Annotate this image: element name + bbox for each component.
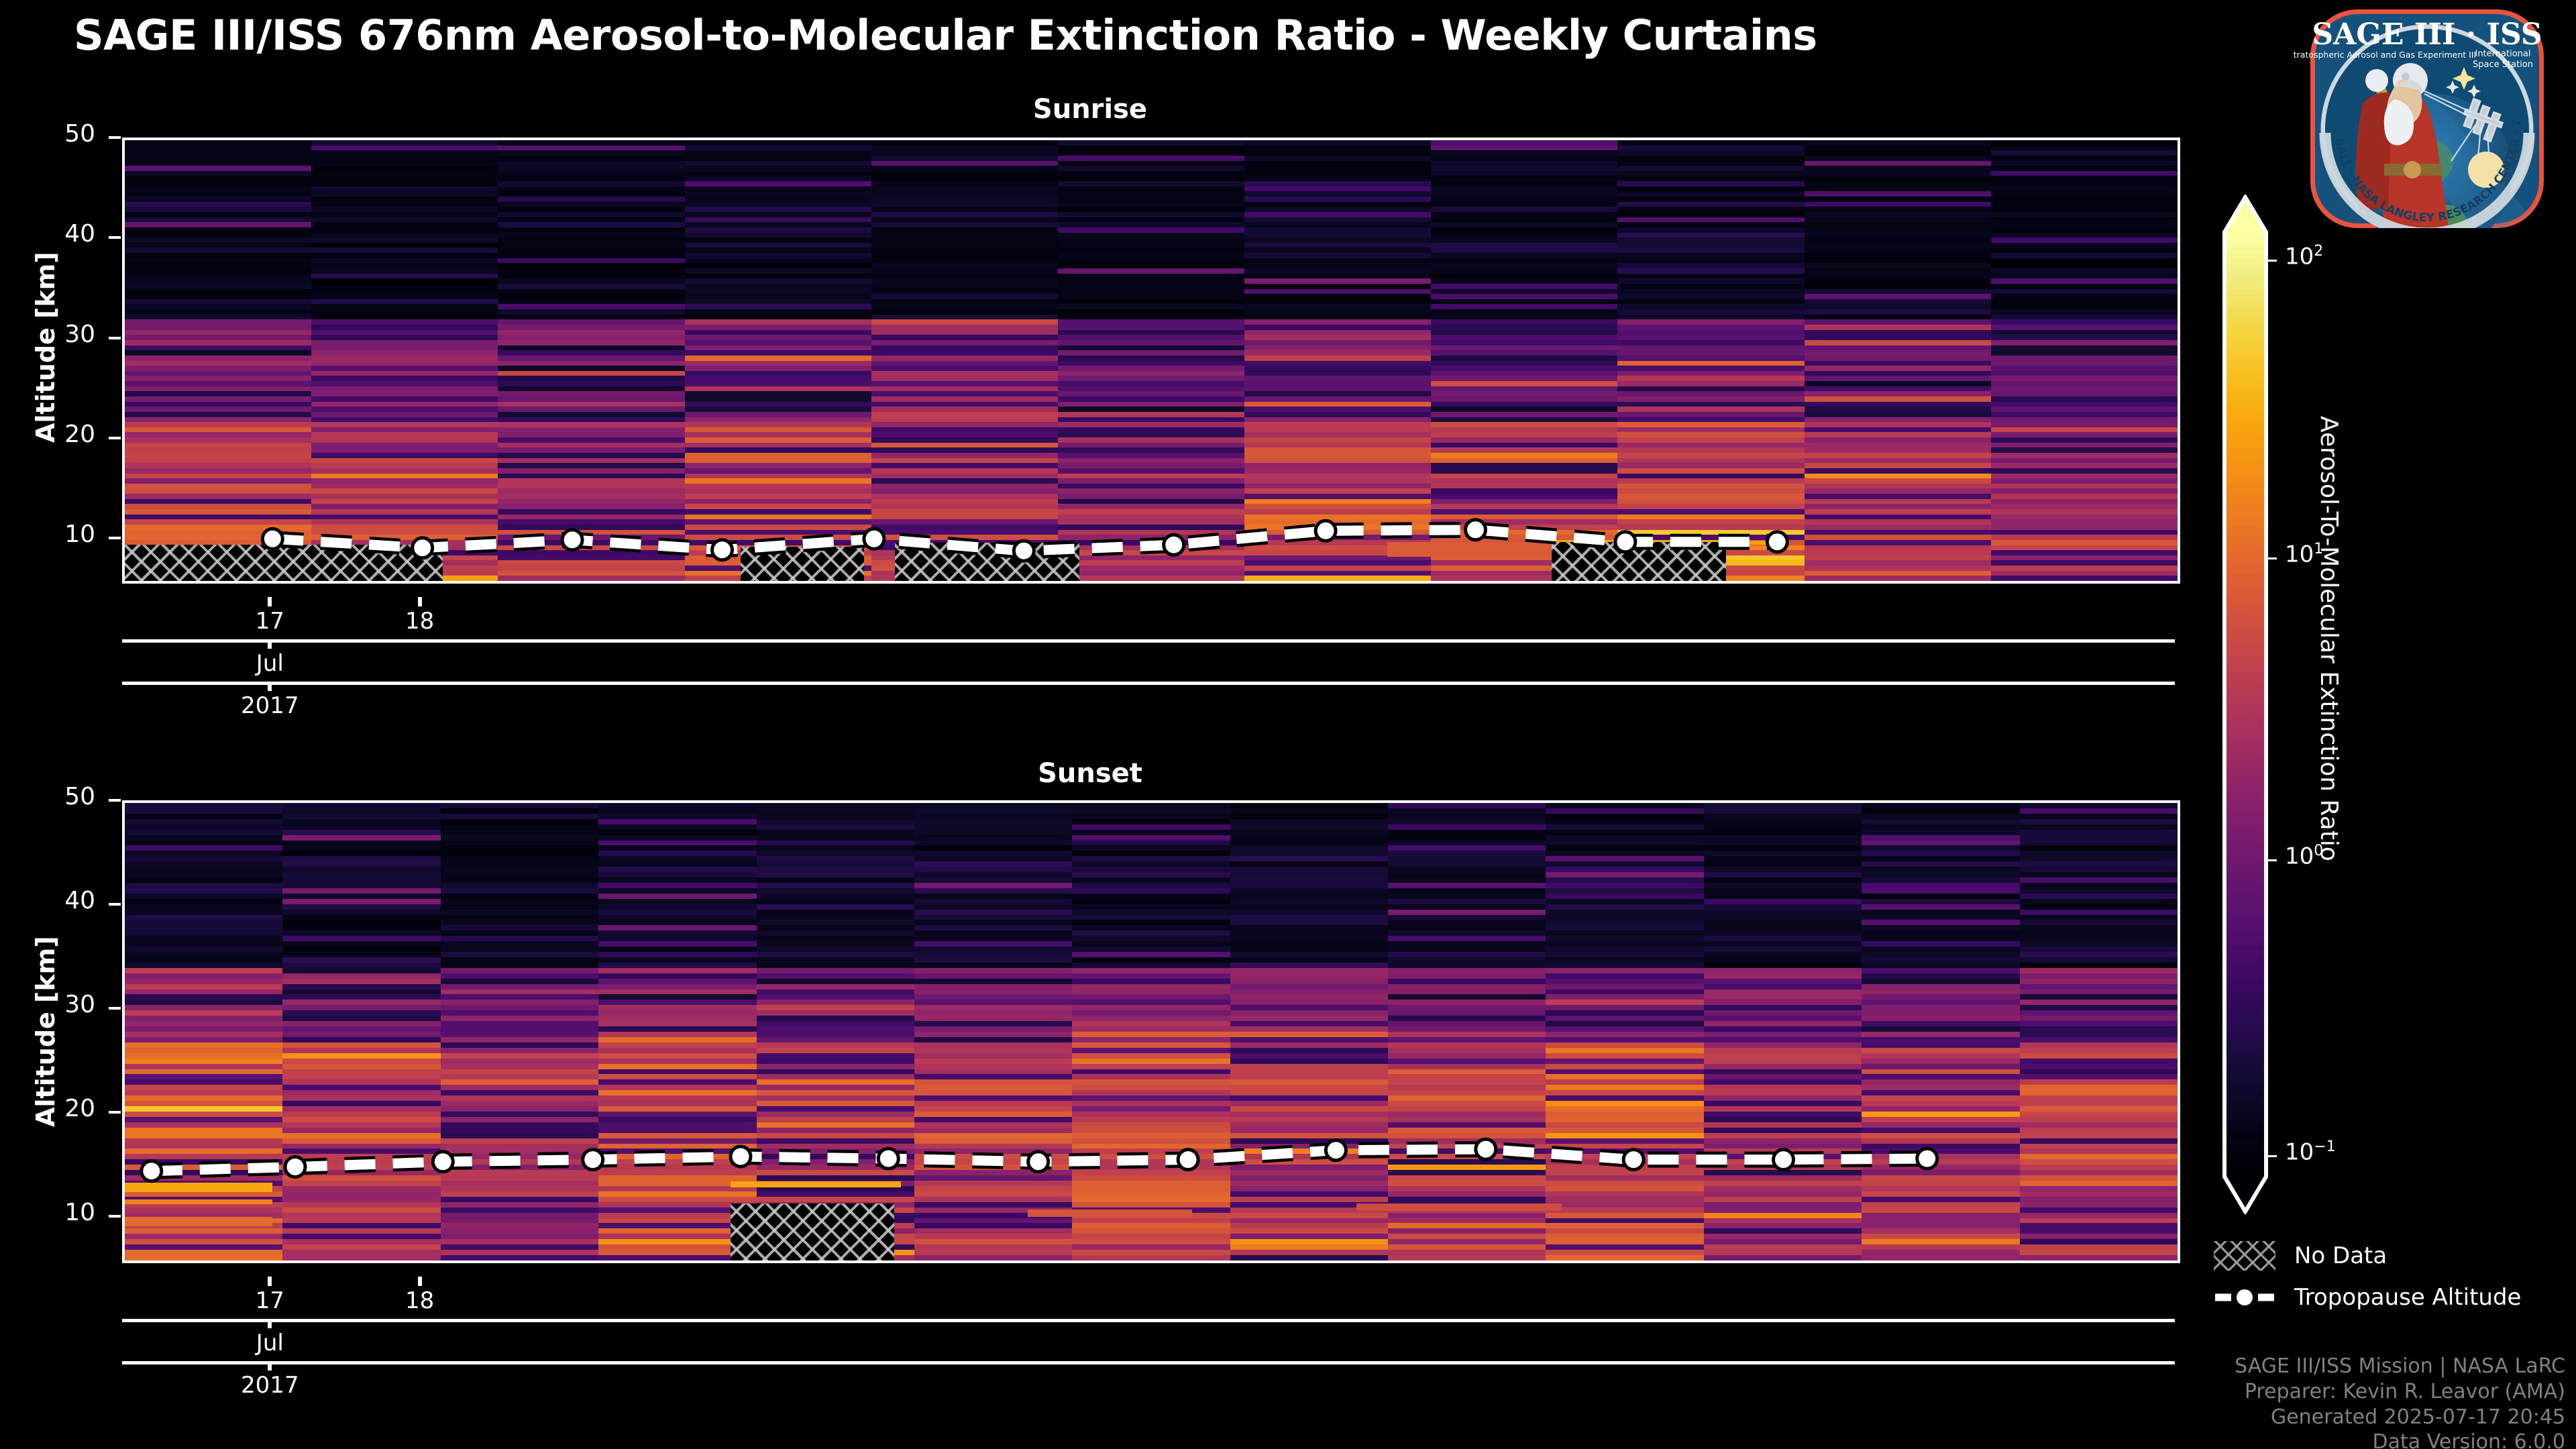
colorbar-band [2224, 904, 2266, 910]
colorbar-tick-mark [2266, 260, 2277, 262]
colorbar-extend-min-arrow [2224, 1177, 2266, 1212]
colorbar-band [2224, 578, 2266, 584]
tropopause-marker [1774, 1150, 1794, 1170]
x-tick-mark-day [418, 1277, 422, 1286]
colorbar-band [2224, 505, 2266, 511]
legend-item-tropopause[interactable]: Tropopause Altitude [2214, 1283, 2521, 1312]
colorbar-band [2224, 1093, 2266, 1099]
colorbar-band [2224, 621, 2266, 627]
y-tick-mark [109, 337, 121, 339]
colorbar-band [2224, 830, 2266, 837]
colorbar-band [2224, 358, 2266, 364]
colorbar-band [2224, 284, 2266, 290]
y-tick-label: 10 [21, 1199, 95, 1226]
y-tick-label: 50 [21, 120, 95, 148]
colorbar-band [2224, 641, 2266, 647]
logo-subtitle-left: Stratospheric Aerosol and Gas Experiment… [2293, 50, 2476, 60]
colorbar-band [2224, 694, 2266, 700]
colorbar-band [2224, 647, 2266, 653]
colorbar-band [2224, 500, 2266, 506]
colorbar-band [2224, 767, 2266, 773]
colorbar-band [2224, 778, 2266, 784]
colorbar-band [2224, 279, 2266, 285]
no-data-swatch-icon [2214, 1241, 2275, 1271]
colorbar-band [2224, 1061, 2266, 1067]
x-tick-label-day: 17 [256, 608, 284, 635]
tropopause-marker [433, 1152, 453, 1172]
colorbar-band [2224, 1035, 2266, 1041]
colorbar-band [2224, 1024, 2266, 1030]
colorbar-band [2224, 573, 2266, 579]
colorbar-band [2224, 699, 2266, 705]
colorbar-band [2224, 788, 2266, 794]
colorbar-band [2224, 689, 2266, 695]
colorbar-band [2224, 877, 2266, 883]
x-axis-level-rule [122, 1361, 2175, 1364]
colorbar-band [2224, 364, 2266, 370]
colorbar-band [2224, 930, 2266, 936]
y-tick-mark [109, 1111, 121, 1114]
colorbar-band [2224, 347, 2266, 354]
y-tick-mark [109, 1007, 121, 1010]
colorbar-band [2224, 773, 2266, 779]
y-tick-label: 50 [21, 783, 95, 810]
colorbar-band [2224, 1114, 2266, 1120]
tropopause-marker [1178, 1150, 1198, 1170]
footer-line-preparer: Preparer: Kevin R. Leavor (AMA) [2235, 1379, 2565, 1405]
footer-line-generated: Generated 2025-07-17 20:45 [2235, 1405, 2565, 1430]
colorbar-band [2224, 762, 2266, 768]
x-axis-level-rule [122, 639, 2175, 643]
colorbar-band [2224, 353, 2266, 359]
colorbar-band [2224, 537, 2266, 543]
colorbar-band [2224, 584, 2266, 590]
colorbar-band [2224, 568, 2266, 574]
x-axis-level-rule [122, 682, 2175, 685]
footer-line-data-version: Data Version: 6.0.0 [2235, 1430, 2565, 1449]
colorbar-band [2224, 1045, 2266, 1051]
colorbar-band [2224, 814, 2266, 820]
colorbar-band [2224, 1087, 2266, 1093]
tropopause-marker [285, 1157, 305, 1177]
tropopause-marker [878, 1148, 898, 1169]
colorbar-tick-mark [2266, 859, 2277, 861]
legend-item-no-data[interactable]: No Data [2214, 1241, 2387, 1271]
colorbar-band [2224, 747, 2266, 753]
tropopause-marker [1164, 535, 1184, 555]
colorbar-band [2224, 883, 2266, 889]
x-tick-label-year: 2017 [241, 1372, 299, 1399]
colorbar-band [2224, 411, 2266, 417]
colorbar-band [2224, 1072, 2266, 1078]
colorbar-band [2224, 332, 2266, 338]
colorbar-band [2224, 327, 2266, 333]
colorbar-band [2224, 684, 2266, 690]
colorbar-band [2224, 394, 2266, 400]
colorbar-band [2224, 857, 2266, 863]
colorbar-band [2224, 437, 2266, 443]
colorbar-band [2224, 552, 2266, 558]
colorbar-band [2224, 914, 2266, 920]
y-tick-label: 40 [21, 887, 95, 914]
colorbar-band [2224, 1166, 2266, 1172]
colorbar-band [2224, 636, 2266, 642]
colorbar-band [2224, 841, 2266, 847]
colorbar-band [2224, 836, 2266, 842]
colorbar-band [2224, 453, 2266, 459]
sunrise-heatmap[interactable] [122, 138, 2180, 584]
colorbar-band [2224, 426, 2266, 432]
colorbar-band [2224, 983, 2266, 989]
tropopause-marker [1767, 532, 1787, 552]
colorbar-band [2224, 248, 2266, 254]
colorbar-band [2224, 1098, 2266, 1104]
colorbar-band [2224, 1040, 2266, 1046]
tropopause-altitude-series [125, 140, 2178, 581]
colorbar-band [2224, 269, 2266, 275]
tropopause-marker [262, 529, 282, 549]
panel-sunrise-title: Sunrise [0, 94, 2180, 125]
colorbar-title: Aerosol-To-Molecular Extinction Ratio [2315, 416, 2343, 861]
colorbar-band [2224, 311, 2266, 317]
colorbar-band [2224, 673, 2266, 679]
sunset-heatmap[interactable] [122, 800, 2180, 1263]
colorbar-band [2224, 384, 2266, 390]
logo-subtitle-right-2: Space Station [2473, 60, 2533, 70]
colorbar-band [2224, 306, 2266, 312]
colorbar-band [2224, 993, 2266, 999]
colorbar-band [2224, 547, 2266, 553]
x-tick-label-day: 17 [256, 1287, 284, 1314]
colorbar-tick-mark [2266, 557, 2277, 559]
colorbar-band [2224, 374, 2266, 380]
tropopause-marker [864, 529, 884, 549]
x-tick-mark-month [268, 639, 272, 649]
colorbar-band [2224, 1119, 2266, 1125]
tropopause-altitude-series [125, 803, 2178, 1260]
colorbar-band [2224, 301, 2266, 307]
tropopause-marker [712, 540, 733, 560]
colorbar-band [2224, 600, 2266, 606]
colorbar-band [2224, 715, 2266, 721]
x-tick-label-month: Jul [256, 1330, 284, 1356]
page-title: SAGE III/ISS 676nm Aerosol-to-Molecular … [74, 11, 1817, 60]
colorbar-band [2224, 657, 2266, 663]
colorbar-band [2224, 867, 2266, 873]
y-tick-mark [109, 903, 121, 906]
colorbar-band [2224, 825, 2266, 831]
colorbar-band [2224, 1156, 2266, 1162]
tropopause-marker [1028, 1152, 1049, 1172]
tropopause-marker [1615, 532, 1635, 552]
colorbar[interactable]: 10210110010−1 Aerosol-To-Molecular Extin… [2210, 195, 2411, 1214]
colorbar-band [2224, 846, 2266, 852]
colorbar-band [2224, 872, 2266, 878]
colorbar-band [2224, 463, 2266, 469]
colorbar-band [2224, 337, 2266, 343]
colorbar-band [2224, 731, 2266, 737]
tropopause-marker [583, 1150, 603, 1170]
tropopause-line-icon [2214, 1283, 2275, 1312]
tropopause-marker [142, 1161, 162, 1181]
colorbar-band [2224, 956, 2266, 962]
x-tick-mark-month [268, 1319, 272, 1328]
colorbar-band [2224, 1145, 2266, 1151]
colorbar-band [2224, 405, 2266, 411]
colorbar-band [2224, 379, 2266, 385]
colorbar-band [2224, 526, 2266, 532]
x-tick-label-day: 18 [405, 608, 434, 635]
colorbar-band [2224, 951, 2266, 957]
colorbar-band [2224, 1124, 2266, 1130]
colorbar-band [2224, 799, 2266, 805]
legend-label-tropopause: Tropopause Altitude [2294, 1284, 2521, 1311]
colorbar-band [2224, 1067, 2266, 1073]
colorbar-band [2224, 652, 2266, 658]
colorbar-band [2224, 1019, 2266, 1025]
y-tick-mark [109, 799, 121, 802]
colorbar-band [2224, 909, 2266, 915]
colorbar-band [2224, 237, 2266, 244]
y-tick-mark [109, 136, 121, 139]
colorbar-band [2224, 243, 2266, 249]
colorbar-band [2224, 542, 2266, 548]
tropopause-marker [1326, 1140, 1346, 1161]
colorbar-tick-label: 10−1 [2285, 1138, 2336, 1165]
colorbar-band [2224, 946, 2266, 952]
colorbar-band [2224, 972, 2266, 978]
colorbar-band [2224, 521, 2266, 527]
colorbar-band [2224, 515, 2266, 521]
colorbar-band [2224, 511, 2266, 517]
colorbar-band [2224, 604, 2266, 610]
colorbar-band [2224, 862, 2266, 868]
colorbar-band [2224, 662, 2266, 668]
tropopause-marker [562, 530, 582, 550]
x-tick-mark-day [418, 597, 422, 606]
colorbar-tick-mark [2266, 1155, 2277, 1157]
colorbar-gradient [2210, 195, 2290, 1214]
colorbar-band [2224, 820, 2266, 826]
colorbar-band [2224, 751, 2266, 757]
colorbar-band [2224, 458, 2266, 464]
colorbar-band [2224, 720, 2266, 726]
tropopause-marker [413, 538, 433, 558]
colorbar-band [2224, 794, 2266, 800]
colorbar-band [2224, 594, 2266, 600]
x-axis-level-rule [122, 1319, 2175, 1322]
colorbar-band [2224, 1150, 2266, 1157]
legend: No Data Tropopause Altitude [2214, 1241, 2569, 1328]
colorbar-band [2224, 935, 2266, 941]
colorbar-band [2224, 531, 2266, 537]
tropopause-marker [1476, 1139, 1496, 1159]
tropopause-marker [1316, 521, 1336, 541]
colorbar-band [2224, 626, 2266, 632]
colorbar-band [2224, 1051, 2266, 1057]
tropopause-marker [1466, 520, 1486, 540]
footer-line-mission: SAGE III/ISS Mission | NASA LaRC [2235, 1354, 2565, 1379]
panel-sunset-title: Sunset [0, 758, 2180, 789]
colorbar-band [2224, 468, 2266, 474]
colorbar-band [2224, 1130, 2266, 1136]
colorbar-band [2224, 447, 2266, 453]
colorbar-band [2224, 710, 2266, 716]
colorbar-band [2224, 631, 2266, 637]
colorbar-band [2224, 290, 2266, 296]
x-tick-mark-day [268, 597, 272, 606]
colorbar-band [2224, 1082, 2266, 1088]
x-tick-label-month: Jul [256, 650, 284, 677]
y-tick-label: 40 [21, 220, 95, 248]
colorbar-band [2224, 1103, 2266, 1109]
colorbar-band [2224, 977, 2266, 983]
colorbar-band [2224, 563, 2266, 569]
colorbar-band [2224, 804, 2266, 810]
colorbar-band [2224, 264, 2266, 270]
colorbar-band [2224, 321, 2266, 327]
y-tick-label: 30 [21, 991, 95, 1018]
colorbar-band [2224, 1108, 2266, 1114]
colorbar-band [2224, 725, 2266, 731]
colorbar-band [2224, 258, 2266, 264]
x-tick-mark-day [268, 1277, 272, 1286]
colorbar-band [2224, 442, 2266, 448]
colorbar-band [2224, 390, 2266, 396]
colorbar-band [2224, 474, 2266, 480]
colorbar-band [2224, 1030, 2266, 1036]
tropopause-marker [1623, 1150, 1644, 1170]
colorbar-band [2224, 232, 2266, 238]
colorbar-band [2224, 295, 2266, 301]
colorbar-band [2224, 1009, 2266, 1015]
colorbar-band [2224, 479, 2266, 485]
colorbar-band [2224, 1004, 2266, 1010]
y-tick-mark [109, 537, 121, 539]
footer-credits: SAGE III/ISS Mission | NASA LaRC Prepare… [2235, 1354, 2565, 1449]
tropopause-marker [731, 1146, 751, 1167]
colorbar-band [2224, 898, 2266, 904]
x-tick-label-year: 2017 [241, 692, 299, 719]
colorbar-band [2224, 610, 2266, 616]
colorbar-band [2224, 484, 2266, 490]
y-tick-label: 20 [21, 1095, 95, 1122]
y-tick-label: 10 [21, 521, 95, 548]
colorbar-band [2224, 967, 2266, 973]
colorbar-band [2224, 888, 2266, 894]
colorbar-extend-max-arrow [2224, 197, 2266, 232]
colorbar-band [2224, 589, 2266, 595]
tropopause-marker [1917, 1148, 1937, 1169]
colorbar-band [2224, 1056, 2266, 1062]
colorbar-band [2224, 920, 2266, 926]
y-tick-mark [109, 1215, 121, 1218]
colorbar-band [2224, 615, 2266, 621]
colorbar-band [2224, 987, 2266, 994]
colorbar-band [2224, 678, 2266, 684]
logo-subtitle-right-1: International [2475, 49, 2531, 59]
colorbar-band [2224, 400, 2266, 406]
colorbar-band [2224, 925, 2266, 931]
colorbar-band [2224, 1171, 2266, 1177]
colorbar-band [2224, 667, 2266, 674]
colorbar-band [2224, 736, 2266, 742]
colorbar-band [2224, 809, 2266, 815]
colorbar-band [2224, 704, 2266, 710]
y-tick-label: 30 [21, 321, 95, 348]
colorbar-band [2224, 741, 2266, 747]
colorbar-band [2224, 274, 2266, 280]
colorbar-tick-label: 102 [2285, 243, 2323, 270]
y-tick-label: 20 [21, 421, 95, 448]
colorbar-band [2224, 1134, 2266, 1140]
colorbar-band [2224, 489, 2266, 495]
colorbar-band [2224, 998, 2266, 1004]
x-tick-label-day: 18 [405, 1287, 434, 1314]
figure-root: SAGE III/ISS 676nm Aerosol-to-Molecular … [0, 0, 2576, 1449]
colorbar-band [2224, 342, 2266, 348]
colorbar-band [2224, 421, 2266, 427]
colorbar-band [2224, 1077, 2266, 1083]
x-tick-mark-year [268, 1361, 272, 1371]
colorbar-band [2224, 1140, 2266, 1146]
colorbar-band [2224, 494, 2266, 500]
colorbar-band [2224, 1161, 2266, 1167]
colorbar-band [2224, 783, 2266, 789]
colorbar-band [2224, 1014, 2266, 1020]
colorbar-band [2224, 941, 2266, 947]
colorbar-band [2224, 253, 2266, 259]
tropopause-marker [1014, 541, 1034, 561]
y-tick-mark [109, 437, 121, 439]
x-tick-mark-year [268, 682, 272, 691]
colorbar-band [2224, 961, 2266, 967]
logo-title-text: SAGE III · ISS [2312, 17, 2542, 52]
colorbar-band [2224, 368, 2266, 374]
colorbar-band [2224, 851, 2266, 857]
colorbar-band [2224, 894, 2266, 900]
colorbar-band [2224, 757, 2266, 763]
y-tick-mark [109, 236, 121, 239]
colorbar-band [2224, 431, 2266, 437]
colorbar-band [2224, 557, 2266, 563]
colorbar-band [2224, 416, 2266, 422]
legend-label-no-data: No Data [2294, 1242, 2387, 1269]
colorbar-band [2224, 316, 2266, 322]
